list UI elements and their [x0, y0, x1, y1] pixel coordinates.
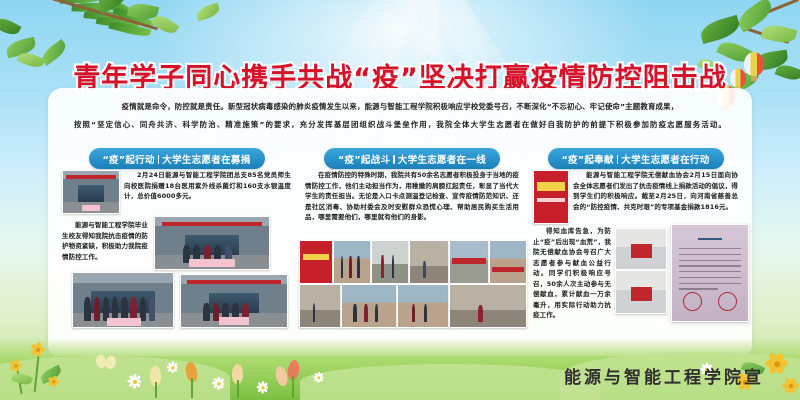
photo-volunteer-3 — [371, 240, 409, 284]
heading-right-text: 大学生志愿者在募捐 — [162, 155, 250, 166]
donation-paragraph: 2月24日能源与智能工程学院团总支85名党员师生向校医院捐赠18台医用紫外线杀菌… — [124, 170, 291, 202]
yellow-flower — [9, 360, 22, 371]
photo-blood-donation-1 — [615, 228, 667, 270]
heading-divider — [617, 155, 619, 164]
heading-divider — [158, 155, 160, 164]
photo-donation-appeal-poster — [533, 170, 569, 224]
donation-paragraph-wrap: 2月24日能源与智能工程学院团总支85名党员师生向校医院捐赠18台医用紫外线杀菌… — [124, 170, 291, 202]
daisy-flower — [314, 373, 324, 383]
yellow-flower — [30, 343, 45, 356]
photo-volunteer-7 — [299, 284, 341, 328]
daisy-flower — [128, 375, 141, 388]
dedication-paragraph-wrap: 能源与智能工程学院无偿献血协会2月15日面向协会全体志愿者们发出了抗击疫情线上捐… — [573, 170, 738, 212]
photo-donation-group-left — [72, 272, 174, 328]
photo-volunteer-9 — [397, 284, 449, 328]
section-heading-dedication: “疫”起奉献大学生志愿者在行动 — [548, 148, 724, 169]
heading-right-text: 大学生志愿者在一线 — [398, 155, 486, 166]
photo-volunteer-8 — [341, 284, 397, 328]
poster-root: 青年学子同心携手共战“疫”坚决打赢疫情防控阻击战 疫情就是命令，防控就是责任。新… — [0, 0, 800, 400]
columns-container: “疫”起行动大学生志愿者在募捐 2月24日能源与智能工程学院团总支85名党员师生… — [58, 148, 742, 352]
butterfly-icon — [96, 354, 118, 370]
frontline-paragraph-wrap: 在疫情防控的特殊时期，我院共有50余名志愿者积极投身于当地的疫情防控工作，他们主… — [305, 170, 519, 223]
intro-paragraph: 疫情就是命令，防控就是责任。新型冠状病毒感染的肺炎疫情发生以来，能源与智能工程学… — [70, 98, 730, 134]
yellow-flower — [48, 376, 60, 386]
photo-hospital-entrance — [62, 170, 120, 214]
heading-left-text: “疫”起奉献 — [562, 155, 614, 166]
dedication-paragraph: 能源与智能工程学院无偿献血协会2月15日面向协会全体志愿者们发出了抗击疫情线上捐… — [573, 170, 738, 212]
official-seal-right — [718, 292, 737, 311]
content-panel: 疫情就是命令，防控就是责任。新型冠状病毒感染的肺炎疫情发生以来，能源与智能工程学… — [48, 88, 752, 356]
photo-donation-group-top — [154, 216, 270, 270]
official-seal-left — [683, 292, 702, 311]
heading-right-text: 大学生志愿者在行动 — [621, 155, 709, 166]
sunflower — [765, 354, 788, 374]
frontline-paragraph: 在疫情防控的特殊时期，我院共有50余名志愿者积极投身于当地的疫情防控工作，他们主… — [305, 170, 519, 223]
daisy-flower — [257, 382, 268, 393]
photo-blood-donation-2 — [615, 270, 667, 314]
photo-donation-group-bottom — [180, 274, 288, 328]
photo-volunteer-6 — [489, 240, 527, 284]
intro-line-2: 按照“坚定信心、同舟共济、科学防治、精准施策”的要求，充分发挥基层团组织战斗堡垒… — [70, 116, 730, 134]
daisy-flower — [213, 378, 225, 390]
sunflower — [782, 378, 799, 392]
certificate-document — [671, 224, 749, 322]
donation-caption: 能源与智能工程学院毕业生校友得知我院抗击疫情的防护物资紧缺，积极助力我院疫情防控… — [62, 220, 148, 262]
photo-volunteer-10 — [449, 284, 527, 328]
intro-line-1: 疫情就是命令，防控就是责任。新型冠状病毒感染的肺炎疫情发生以来，能源与智能工程学… — [70, 98, 730, 116]
daisy-flower — [167, 362, 177, 372]
photo-volunteer-2 — [333, 240, 371, 284]
column-frontline: “疫”起战斗大学生志愿者在一线 在疫情防控的特殊时期，我院共有50余名志愿者积极… — [301, 148, 523, 352]
column-donation: “疫”起行动大学生志愿者在募捐 2月24日能源与智能工程学院团总支85名党员师生… — [58, 148, 295, 352]
photo-volunteer-4 — [409, 240, 449, 284]
hill-mid — [300, 364, 600, 400]
heading-left-text: “疫”起战斗 — [338, 155, 390, 166]
photo-volunteer-1 — [299, 240, 333, 284]
heading-left-text: “疫”起行动 — [103, 155, 155, 166]
section-heading-frontline: “疫”起战斗大学生志愿者在一线 — [324, 148, 500, 169]
publisher-signature: 能源与智能工程学院宣 — [564, 363, 764, 388]
column-dedication: “疫”起奉献大学生志愿者在行动 能源与智能工程学院无偿献血协会2月15日面向协会… — [529, 148, 742, 352]
photo-volunteer-5 — [449, 240, 489, 284]
dedication-caption: 得知血库告急，为防止“疫”后出现“血荒”，我院无偿献血协会号召广大志愿者参与献血… — [533, 226, 611, 321]
donation-caption-wrap: 能源与智能工程学院毕业生校友得知我院抗击疫情的防护物资紧缺，积极助力我院疫情防控… — [62, 220, 148, 262]
section-heading-donation: “疫”起行动大学生志愿者在募捐 — [89, 148, 265, 169]
dedication-caption-wrap: 得知血库告急，为防止“疫”后出现“血荒”，我院无偿献血协会号召广大志愿者参与献血… — [533, 226, 611, 321]
heading-divider — [393, 155, 395, 164]
